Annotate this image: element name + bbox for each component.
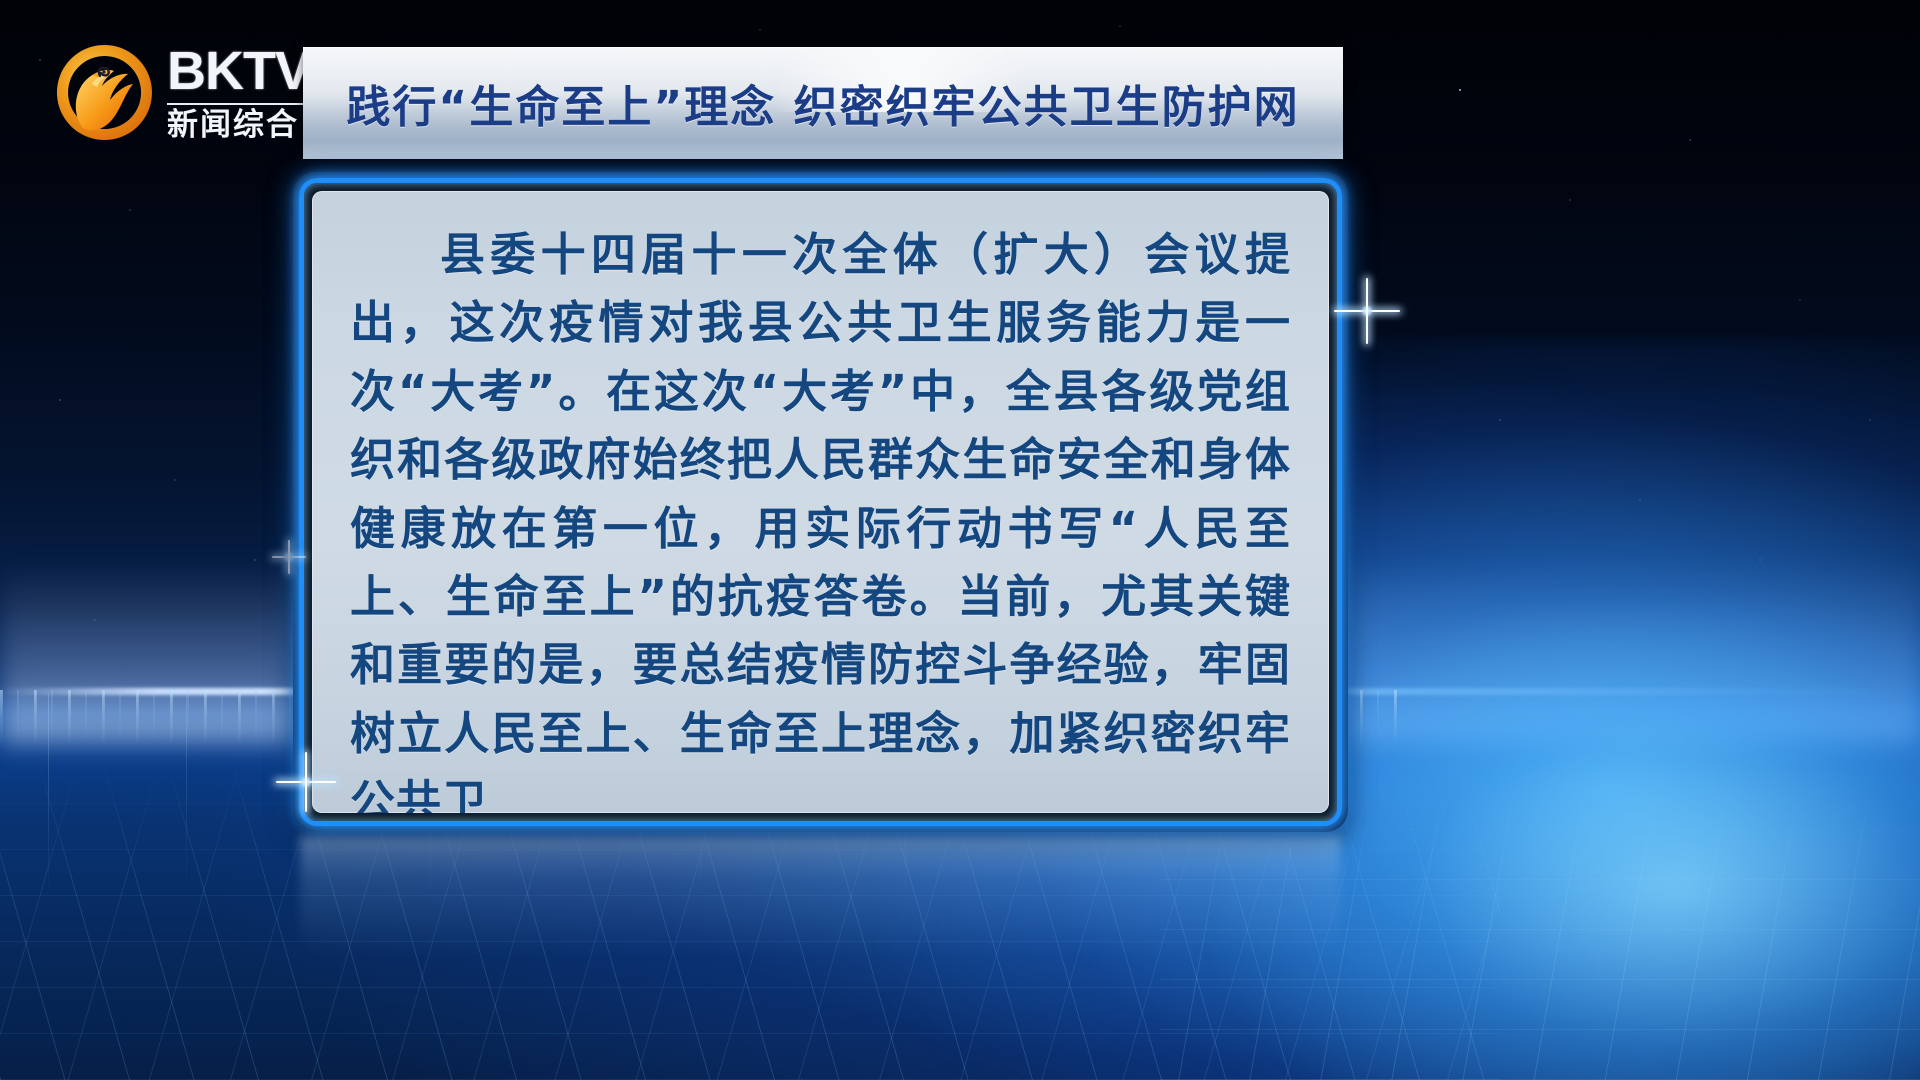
channel-sub-name: 新闻综合 [167,109,299,140]
headline-bar: 践行“生命至上”理念 织密织牢公共卫生防护网 [303,47,1343,159]
content-paragraph: 县委十四届十一次全体（扩大）会议提出，这次疫情对我县公共卫生服务能力是一次“大考… [350,221,1291,813]
broadcast-screen: BKTV 新闻综合 践行“生命至上”理念 织密织牢公共卫生防护网 县委十四届十一… [0,0,1920,1080]
channel-call-sign: BKTV [167,44,310,98]
panel-reflection-decoration [300,836,1340,956]
headline-title: 践行“生命至上”理念 织密织牢公共卫生防护网 [346,71,1299,135]
content-panel-inner: 县委十四届十一次全体（扩大）会议提出，这次疫情对我县公共卫生服务能力是一次“大考… [312,191,1329,813]
logo-divider [167,103,303,105]
phoenix-logo-icon [52,40,157,145]
channel-logo: BKTV 新闻综合 [52,28,297,156]
channel-logo-text: BKTV 新闻综合 [167,44,310,140]
content-panel: 县委十四届十一次全体（扩大）会议提出，这次疫情对我县公共卫生服务能力是一次“大考… [293,172,1348,832]
